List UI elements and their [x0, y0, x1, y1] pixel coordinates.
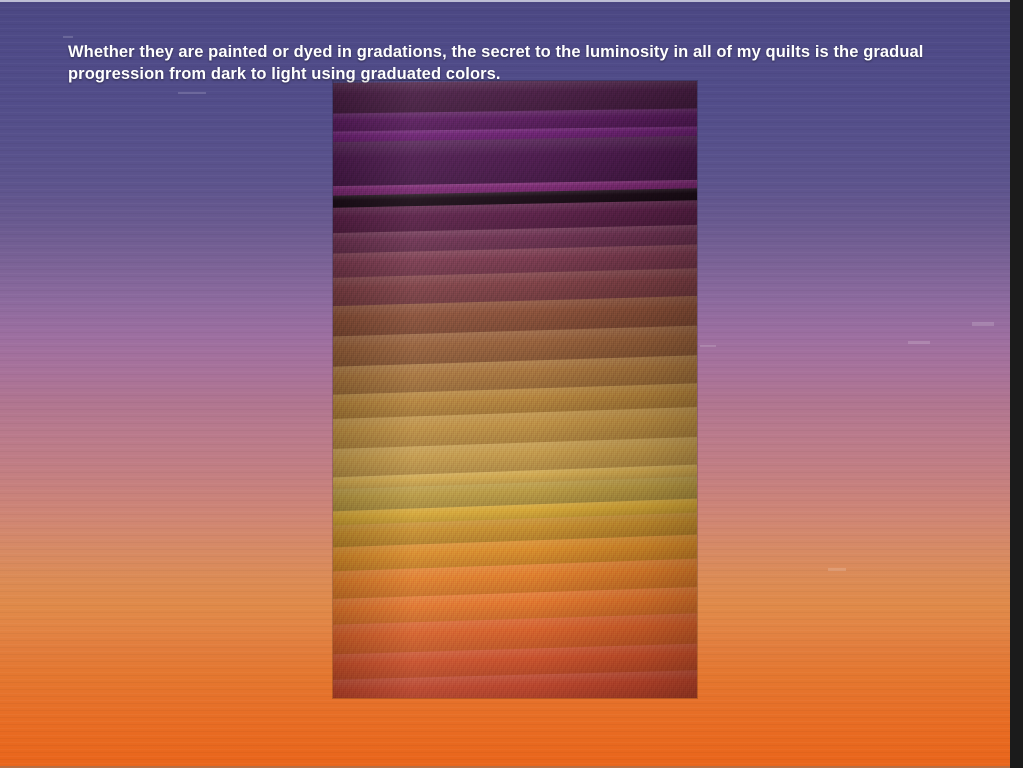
presentation-slide: Whether they are painted or dyed in grad… — [0, 0, 1023, 768]
slide-top-edge — [0, 0, 1010, 2]
right-letterbox-bar — [1010, 0, 1023, 768]
slide-caption-text: Whether they are painted or dyed in grad… — [68, 41, 948, 85]
quilt-photo — [333, 81, 697, 698]
